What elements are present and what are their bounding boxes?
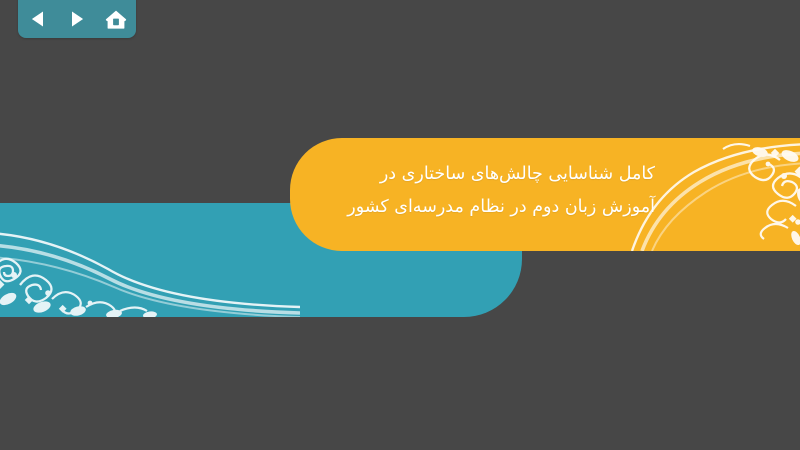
- forward-triangle-icon: [67, 9, 87, 29]
- back-triangle-icon: [28, 9, 48, 29]
- home-button[interactable]: [101, 5, 131, 33]
- forward-button[interactable]: [62, 5, 92, 33]
- title-line-1: کامل شناسایی چالش‌های ساختاری در: [325, 158, 655, 191]
- arabesque-ornament-bottom-left: [0, 207, 300, 317]
- navigation-bar: [18, 0, 136, 38]
- page-title: کامل شناسایی چالش‌های ساختاری در آموزش ز…: [325, 158, 655, 224]
- title-banner: کامل شناسایی چالش‌های ساختاری در آموزش ز…: [290, 138, 800, 251]
- home-icon: [105, 9, 127, 30]
- back-button[interactable]: [23, 5, 53, 33]
- slide-canvas: کامل شناسایی چالش‌های ساختاری در آموزش ز…: [0, 0, 800, 450]
- title-line-2: آموزش زبان دوم در نظام مدرسه‌ای کشور: [325, 191, 655, 224]
